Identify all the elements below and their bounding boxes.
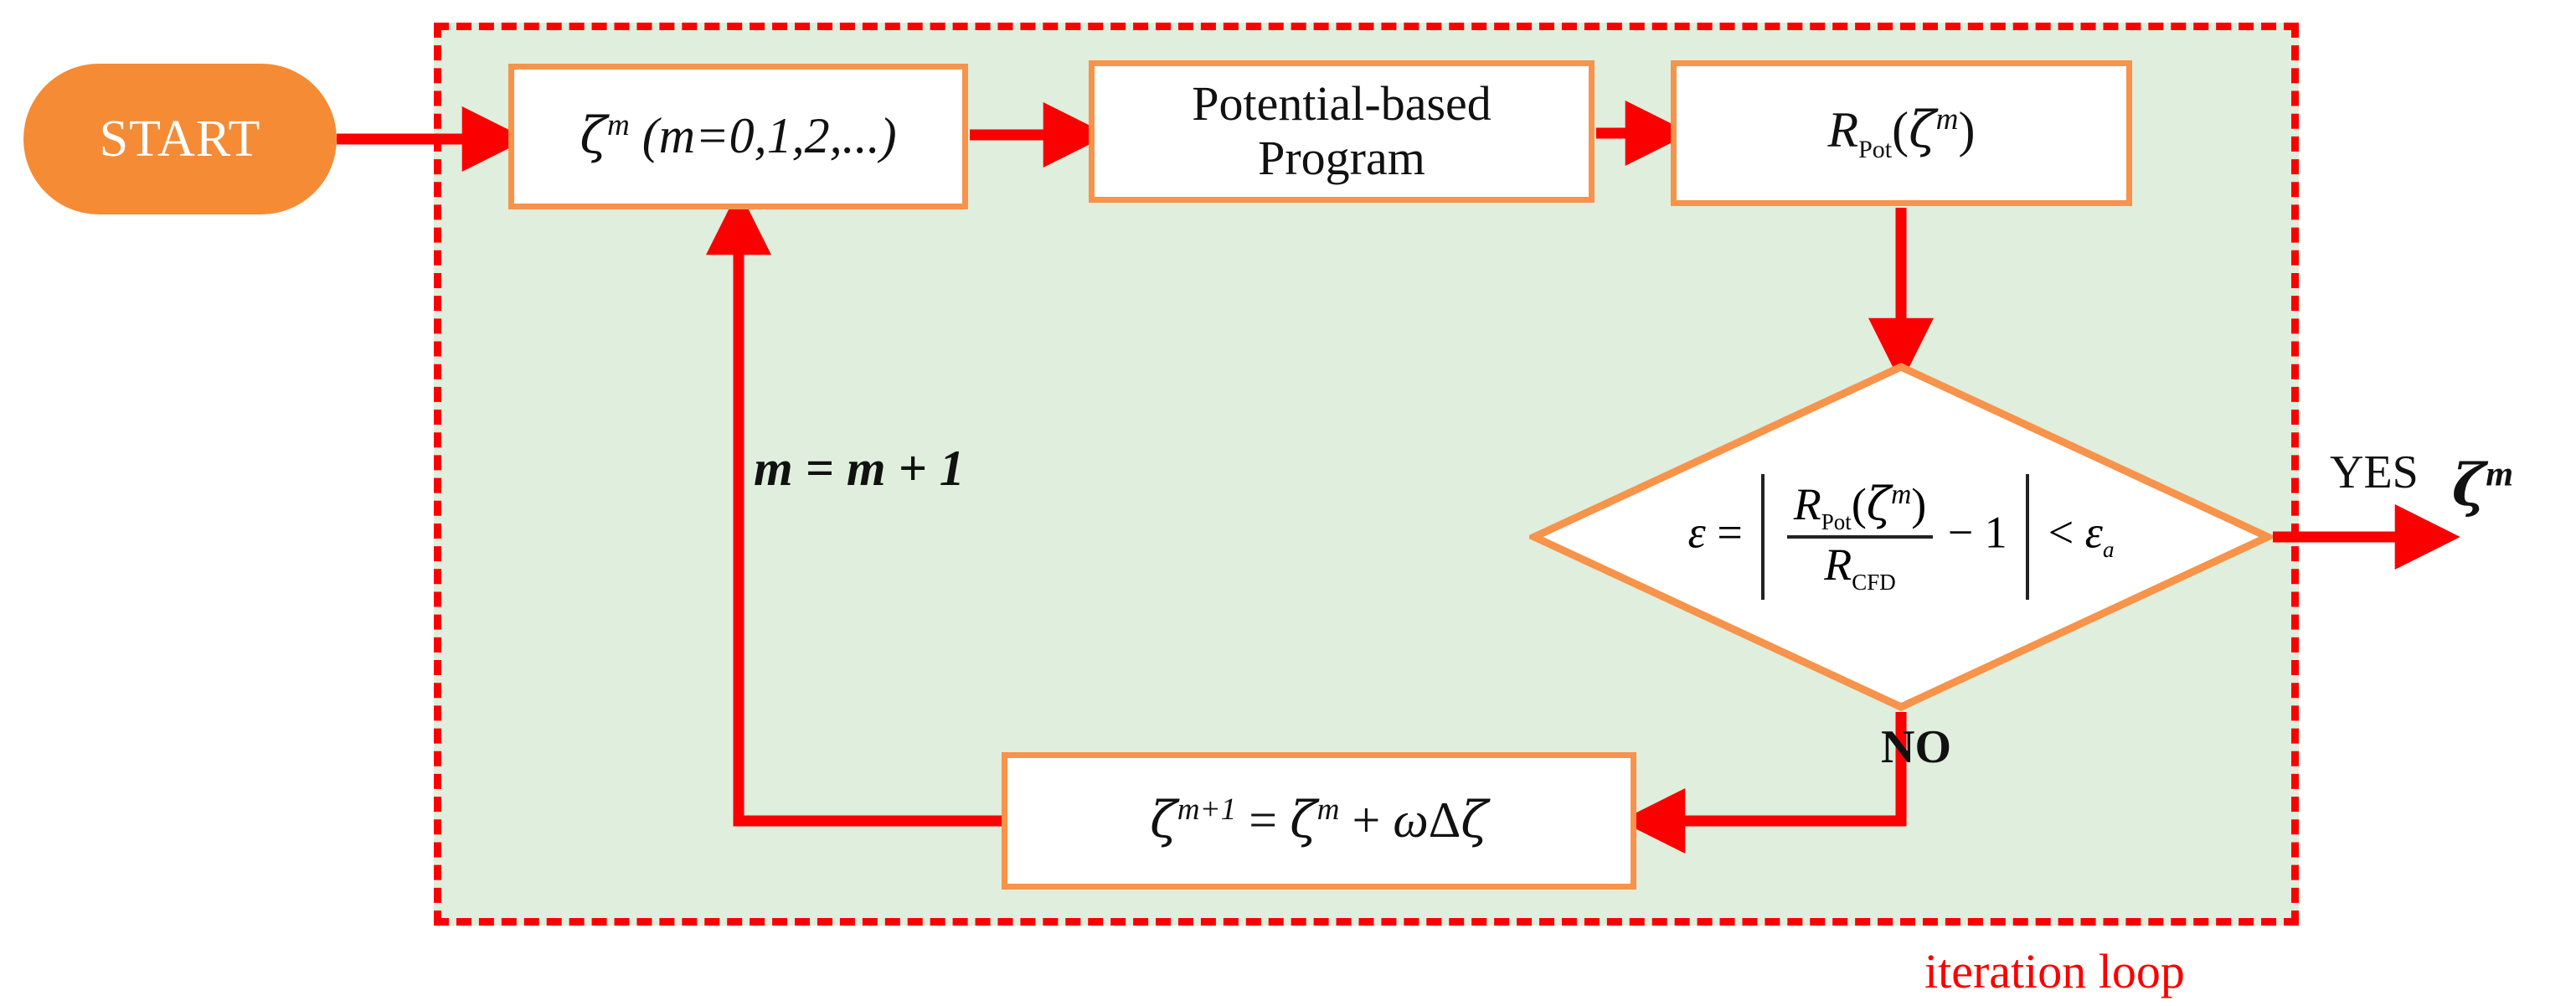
update-lhs-base: ζ bbox=[1150, 791, 1177, 849]
node-r-pot-label: RPot(ζm) bbox=[1827, 102, 1975, 164]
program-line-1: Potential-based bbox=[1192, 76, 1492, 131]
rpot-subscript: Pot bbox=[1858, 136, 1892, 163]
output-zeta-base: ζ bbox=[2452, 452, 2486, 519]
node-zeta-update-label: ζm+1 = ζm + ωΔζ bbox=[1150, 792, 1488, 849]
zeta-exponent: m bbox=[607, 108, 630, 142]
node-r-pot[interactable]: RPot(ζm) bbox=[1671, 60, 2132, 206]
edge-label-yes: YES bbox=[2330, 446, 2419, 499]
output-zeta: ζm bbox=[2452, 452, 2513, 519]
rpot-arg: ζ bbox=[1909, 101, 1936, 159]
zeta-symbol: ζ bbox=[580, 106, 607, 165]
node-zeta-update[interactable]: ζm+1 = ζm + ωΔζ bbox=[1002, 752, 1636, 890]
update-lhs-exponent: m+1 bbox=[1177, 792, 1237, 827]
yes-text: YES bbox=[2330, 446, 2419, 498]
update-equals: = bbox=[1249, 792, 1277, 848]
iteration-loop-caption: iteration loop bbox=[1924, 943, 2185, 999]
diamond-shape bbox=[1529, 362, 2273, 712]
edge-label-increment: m = m + 1 bbox=[754, 440, 965, 498]
no-text: NO bbox=[1881, 721, 1951, 773]
zeta-init-paren: (m=0,1,2,...) bbox=[642, 108, 897, 163]
update-plus: + bbox=[1352, 792, 1380, 848]
node-potential-program[interactable]: Potential-based Program bbox=[1089, 60, 1595, 203]
update-rhs-base: ζ bbox=[1290, 791, 1317, 849]
arrow-decision-no-to-update bbox=[1651, 712, 1901, 821]
rpot-arg-exponent: m bbox=[1936, 102, 1959, 137]
program-line-2: Program bbox=[1258, 131, 1425, 185]
node-convergence-check[interactable]: ε = RPot(ζm) RCFD − 1 < εa bbox=[1529, 362, 2273, 712]
increment-text: m = m + 1 bbox=[754, 441, 965, 496]
iteration-loop-caption-text: iteration loop bbox=[1924, 944, 2185, 998]
node-potential-program-label: Potential-based Program bbox=[1192, 77, 1492, 186]
delta-variable: ζ bbox=[1461, 791, 1488, 849]
edge-label-no: NO bbox=[1881, 720, 1951, 774]
update-rhs-exponent: m bbox=[1317, 792, 1340, 827]
delta-symbol: Δ bbox=[1429, 792, 1461, 848]
relaxation-factor: ω bbox=[1393, 792, 1428, 848]
flowchart-canvas: START ζm (m=0,1,2,...) Potential-based P… bbox=[0, 0, 2576, 1006]
arrow-update-to-zeta bbox=[739, 221, 1002, 821]
start-terminator[interactable]: START bbox=[23, 64, 337, 214]
rpot-symbol: R bbox=[1827, 102, 1858, 157]
start-label: START bbox=[100, 110, 261, 169]
node-zeta-init[interactable]: ζm (m=0,1,2,...) bbox=[508, 64, 968, 209]
output-zeta-exponent: m bbox=[2486, 454, 2513, 493]
node-zeta-init-label: ζm (m=0,1,2,...) bbox=[580, 108, 896, 164]
